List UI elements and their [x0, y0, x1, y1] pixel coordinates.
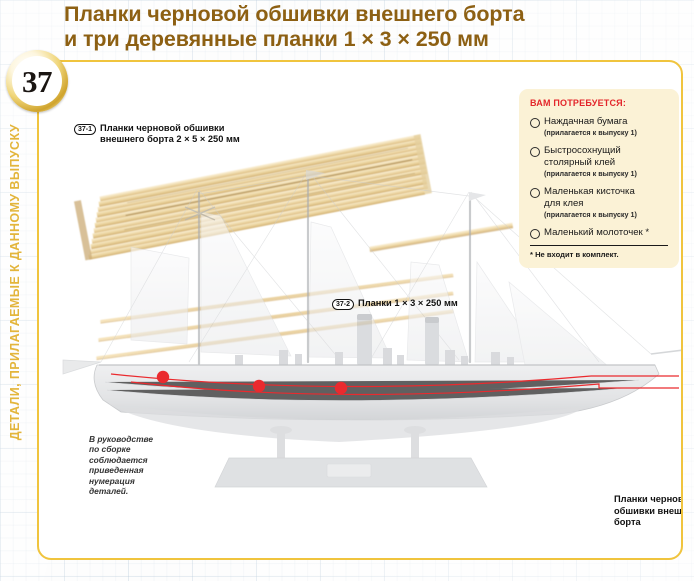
part-number-37-1: 37-1 — [74, 124, 96, 135]
page-title: Планки черновой обшивки внешнего борта и… — [64, 2, 690, 52]
requirement-item-0[interactable]: Наждачная бумага (прилагается к выпуску … — [530, 116, 668, 137]
assembly-numbering-note: В руководстве по сборке соблюдается прив… — [89, 434, 169, 496]
circle-checkbox-icon[interactable] — [530, 229, 540, 239]
part-number-37-2: 37-2 — [332, 299, 354, 310]
requirement-label-3: Маленький молоточек * — [544, 227, 668, 238]
issue-badge-inner: 37 — [12, 56, 62, 106]
circle-checkbox-icon[interactable] — [530, 147, 540, 157]
requirements-box: ВАМ ПОТРЕБУЕТСЯ: Наждачная бумага (прила… — [519, 89, 679, 268]
requirement-item-1[interactable]: Быстросохнущий столярный клей (прилагает… — [530, 145, 668, 178]
part-text-37-1: Планки черновой обшивки внешнего борта 2… — [100, 123, 240, 145]
requirement-sub-2: (прилагается к выпуску 1) — [544, 210, 668, 219]
requirement-label-1: Быстросохнущий столярный клей — [544, 145, 668, 168]
part-label-37-2: 37-2 Планки 1 × 3 × 250 мм — [332, 298, 458, 310]
requirement-item-3[interactable]: Маленький молоточек * — [530, 227, 668, 238]
requirements-title: ВАМ ПОТРЕБУЕТСЯ: — [530, 98, 668, 108]
requirement-sub-1: (прилагается к выпуску 1) — [544, 169, 668, 178]
requirement-label-0: Наждачная бумага — [544, 116, 668, 127]
hull-marker-dot-3 — [335, 382, 347, 394]
requirement-sub-0: (прилагается к выпуску 1) — [544, 128, 668, 137]
circle-checkbox-icon[interactable] — [530, 118, 540, 128]
part-text-37-2: Планки 1 × 3 × 250 мм — [358, 298, 458, 309]
issue-number-text: 37 — [22, 66, 52, 97]
hull-marker-dot-1 — [157, 371, 169, 383]
wooden-planking-strips-bundle — [74, 134, 513, 260]
main-content-panel: 37-1 Планки черновой обшивки внешнего бо… — [37, 60, 683, 560]
circle-checkbox-icon[interactable] — [530, 188, 540, 198]
hull-marker-dot-2 — [253, 380, 265, 392]
requirements-divider — [530, 245, 668, 246]
hull-callout-text: Планки черновой обшивки внешнего борта — [614, 494, 683, 529]
requirement-item-2[interactable]: Маленькая кисточка для клея (прилагается… — [530, 186, 668, 219]
sidebar-label-text: ДЕТАЛИ, ПРИЛАГАЕМЫЕ К ДАННОМУ ВЫПУСКУ — [8, 124, 22, 544]
requirements-footnote: * Не входит в комплект. — [530, 250, 668, 259]
requirement-label-2: Маленькая кисточка для клея — [544, 186, 668, 209]
part-label-37-1: 37-1 Планки черновой обшивки внешнего бо… — [74, 123, 240, 145]
sidebar-vertical-label: ДЕТАЛИ, ПРИЛАГАЕМЫЕ К ДАННОМУ ВЫПУСКУ — [2, 130, 28, 550]
issue-number-badge: 37 — [6, 50, 68, 112]
